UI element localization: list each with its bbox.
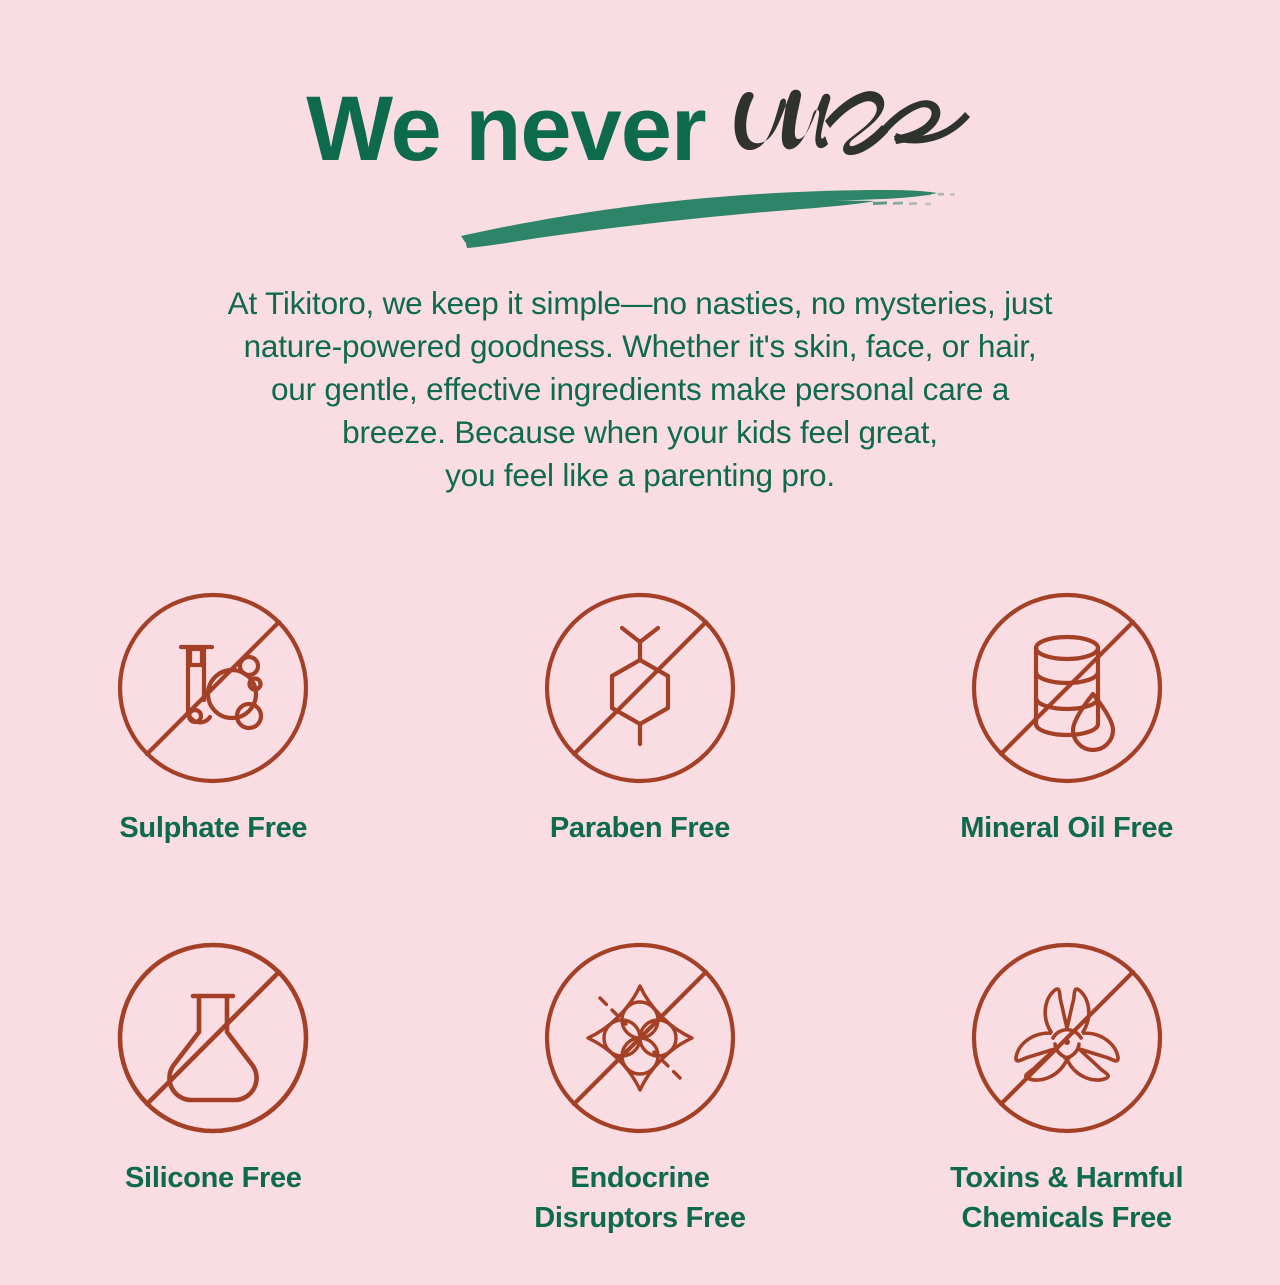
claim-toxins-chemicals-free: Toxins & Harmful Chemicals Free <box>877 940 1257 1285</box>
intro-line-3: our gentle, effective ingredients make p… <box>60 368 1220 411</box>
claim-label-line1: Endocrine <box>570 1162 709 1194</box>
claim-mineral-oil-free: Mineral Oil Free <box>877 590 1257 940</box>
claim-label-line1: Silicone Free <box>125 1162 302 1194</box>
claim-label-line2: Chemicals Free <box>950 1198 1183 1238</box>
intro-line-5: you feel like a parenting pro. <box>60 454 1220 497</box>
heading-row: We never <box>0 64 1280 178</box>
claim-label: Endocrine Disruptors Free <box>534 1158 745 1238</box>
claim-endocrine-disruptors-free: Endocrine Disruptors Free <box>450 940 830 1285</box>
claims-grid: Sulphate Free <box>0 590 1280 1285</box>
claim-paraben-free: Paraben Free <box>450 590 830 940</box>
claim-label: Mineral Oil Free <box>960 808 1173 848</box>
no-silicone-erlenmeyer-flask-icon <box>115 940 311 1136</box>
handwritten-use-script-icon <box>724 70 974 166</box>
claim-silicone-free: Silicone Free <box>23 940 403 1285</box>
intro-line-2: nature-powered goodness. Whether it's sk… <box>60 325 1220 368</box>
claim-sulphate-free: Sulphate Free <box>23 590 403 940</box>
claim-label: Silicone Free <box>125 1158 302 1198</box>
intro-line-1: At Tikitoro, we keep it simple—no nastie… <box>60 282 1220 325</box>
claim-label-line1: Paraben Free <box>550 812 730 844</box>
no-endocrine-disruptor-flower-icon <box>542 940 738 1136</box>
claim-label-line1: Mineral Oil Free <box>960 812 1173 844</box>
intro-line-4: breeze. Because when your kids feel grea… <box>60 411 1220 454</box>
claim-label-line2: Disruptors Free <box>534 1198 745 1238</box>
promo-page: We never <box>0 0 1280 1281</box>
no-sulphate-test-tube-bubbles-icon <box>115 590 311 786</box>
no-mineral-oil-barrel-droplet-icon <box>969 590 1165 786</box>
claim-label-line1: Toxins & Harmful <box>950 1162 1183 1194</box>
no-paraben-benzene-ring-icon <box>542 590 738 786</box>
intro-paragraph: At Tikitoro, we keep it simple—no nastie… <box>60 282 1220 497</box>
claim-label: Sulphate Free <box>119 808 307 848</box>
no-toxins-biohazard-icon <box>969 940 1165 1136</box>
heading-block: We never <box>0 64 1280 178</box>
brush-stroke-underline-icon <box>455 178 965 250</box>
page-title: We never <box>306 81 705 178</box>
claim-label-line1: Sulphate Free <box>119 812 307 844</box>
claim-label: Paraben Free <box>550 808 730 848</box>
claim-label: Toxins & Harmful Chemicals Free <box>950 1158 1183 1238</box>
